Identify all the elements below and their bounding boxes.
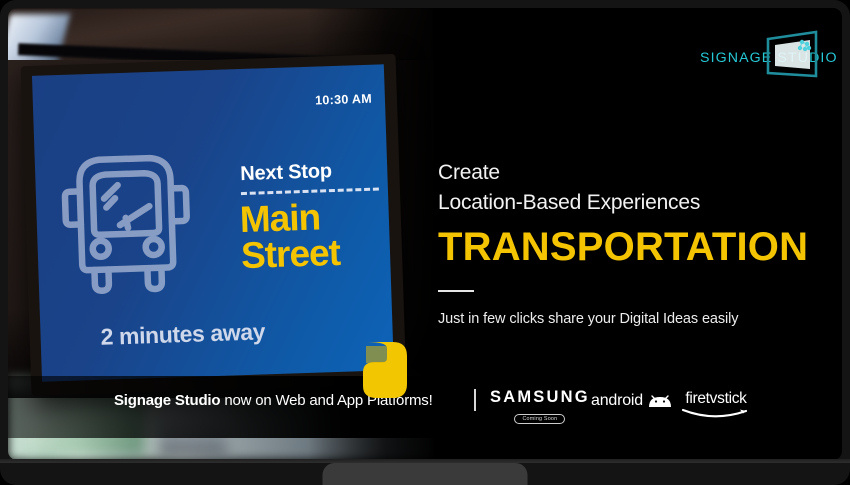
- samsung-wordmark: SAMSUNG: [490, 388, 590, 407]
- tv-stand: [323, 463, 528, 485]
- platform-firetvstick: firetvstick: [680, 390, 752, 426]
- banner-divider: [474, 389, 476, 411]
- dashed-separator: [241, 187, 379, 195]
- headline: TRANSPORTATION: [438, 224, 838, 270]
- copy-line-2: Location-Based Experiences: [438, 188, 838, 218]
- signage-clock: 10:30 AM: [315, 92, 372, 108]
- banner-brand: Signage Studio: [114, 392, 220, 409]
- stop-name: Main Street: [239, 197, 394, 275]
- tv-frame: 10:30 AM: [0, 0, 850, 485]
- android-wordmark: android: [591, 392, 643, 410]
- copy-line-1: Create: [438, 158, 838, 188]
- amazon-smile-icon: [680, 408, 752, 421]
- signage-panel: 10:30 AM: [32, 64, 394, 382]
- next-stop-label: Next Stop: [240, 160, 332, 186]
- signage-display-preview: 10:30 AM: [21, 54, 407, 396]
- platform-samsung: SAMSUNG Coming Soon: [490, 388, 590, 425]
- coming-soon-badge: Coming Soon: [514, 414, 565, 424]
- yellow-corner-bracket: [363, 342, 407, 398]
- headline-rule: [438, 290, 474, 292]
- bus-front-icon: [46, 142, 206, 297]
- display-screen-icon: [762, 30, 820, 82]
- subcopy: Just in few clicks share your Digital Id…: [438, 311, 838, 327]
- bottom-banner: Signage Studio now on Web and App Platfo…: [8, 376, 842, 438]
- marketing-copy: Create Location-Based Experiences TRANSP…: [438, 158, 838, 327]
- android-robot-icon: [648, 395, 672, 408]
- firetvstick-wordmark: firetvstick: [680, 390, 752, 408]
- tv-screen: 10:30 AM: [8, 8, 842, 460]
- signage-studio-logo: SIGNAGE STUDIO: [700, 32, 820, 82]
- platform-android: android: [591, 392, 672, 410]
- eta-text: 2 minutes away: [100, 318, 265, 350]
